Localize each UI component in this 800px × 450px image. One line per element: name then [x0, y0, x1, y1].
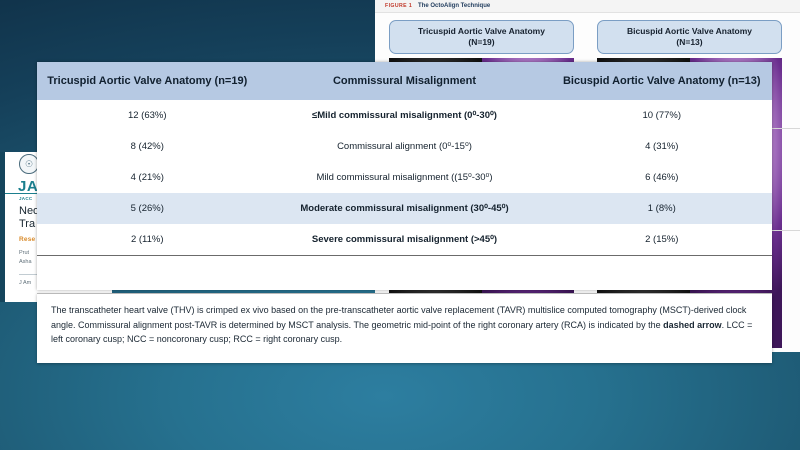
figure-panel-bicuspid: Bicuspid Aortic Valve Anatomy (N=13) [597, 20, 782, 54]
cell-bicuspid: 2 (15%) [552, 224, 773, 256]
journal-brand-sub: JACC [19, 196, 32, 201]
cell-category: Commissural alignment (0⁰-15⁰) [258, 131, 552, 162]
article-author-line1: Prut [19, 249, 29, 257]
column-header-category: Commissural Misalignment [258, 62, 552, 100]
cell-bicuspid: 1 (8%) [552, 193, 773, 224]
cell-tricuspid: 5 (26%) [37, 193, 258, 224]
table-row-highlighted: 5 (26%) Moderate commissural misalignmen… [37, 193, 772, 224]
article-section-kicker: Rese [19, 236, 35, 243]
caption-emphasis: dashed arrow [663, 320, 722, 330]
cell-tricuspid: 2 (11%) [37, 224, 258, 256]
cell-bicuspid: 6 (46%) [552, 162, 773, 193]
article-citation: J Am [19, 280, 31, 286]
column-header-bicuspid: Bicuspid Aortic Valve Anatomy (n=13) [552, 62, 773, 100]
commissural-misalignment-table-panel: Tricuspid Aortic Valve Anatomy (n=19) Co… [37, 62, 772, 290]
cell-category: Severe commissural misalignment (>45⁰) [258, 224, 552, 256]
table-row: 8 (42%) Commissural alignment (0⁰-15⁰) 4… [37, 131, 772, 162]
figure-panel-tricuspid-name: Tricuspid Aortic Valve Anatomy [418, 26, 545, 37]
cell-tricuspid: 4 (21%) [37, 162, 258, 193]
figure-panel-tricuspid-n: (N=19) [468, 37, 494, 48]
cell-category: Mild commissural misalignment ((15⁰-30⁰) [258, 162, 552, 193]
figure-panel-bicuspid-n: (N=13) [676, 37, 702, 48]
table-row: 4 (21%) Mild commissural misalignment ((… [37, 162, 772, 193]
cell-tricuspid: 8 (42%) [37, 131, 258, 162]
figure-panel-bicuspid-name: Bicuspid Aortic Valve Anatomy [627, 26, 752, 37]
figure-caption-panel: The transcatheter heart valve (THV) is c… [37, 293, 772, 363]
caption-part-1: The transcatheter heart valve (THV) is c… [51, 305, 746, 330]
commissural-misalignment-table: Tricuspid Aortic Valve Anatomy (n=19) Co… [37, 62, 772, 256]
cell-bicuspid: 4 (31%) [552, 131, 773, 162]
article-author-line2: Asha [19, 258, 32, 266]
cell-category: Moderate commissural misalignment (30⁰-4… [258, 193, 552, 224]
figure-panel-tricuspid: Tricuspid Aortic Valve Anatomy (N=19) [389, 20, 574, 54]
figure-title: The OctoAlign Technique [418, 3, 490, 9]
table-row: 2 (11%) Severe commissural misalignment … [37, 224, 772, 256]
cell-category: ≤Mild commissural misalignment (0⁰-30⁰) [258, 100, 552, 131]
figure-label: FIGURE 1 [385, 3, 412, 9]
table-row: 12 (63%) ≤Mild commissural misalignment … [37, 100, 772, 131]
journal-seal-icon: ☉ [19, 154, 39, 174]
figure-caption-text: The transcatheter heart valve (THV) is c… [51, 303, 758, 347]
cell-tricuspid: 12 (63%) [37, 100, 258, 131]
column-header-tricuspid: Tricuspid Aortic Valve Anatomy (n=19) [37, 62, 258, 100]
table-header-row: Tricuspid Aortic Valve Anatomy (n=19) Co… [37, 62, 772, 100]
cell-bicuspid: 10 (77%) [552, 100, 773, 131]
